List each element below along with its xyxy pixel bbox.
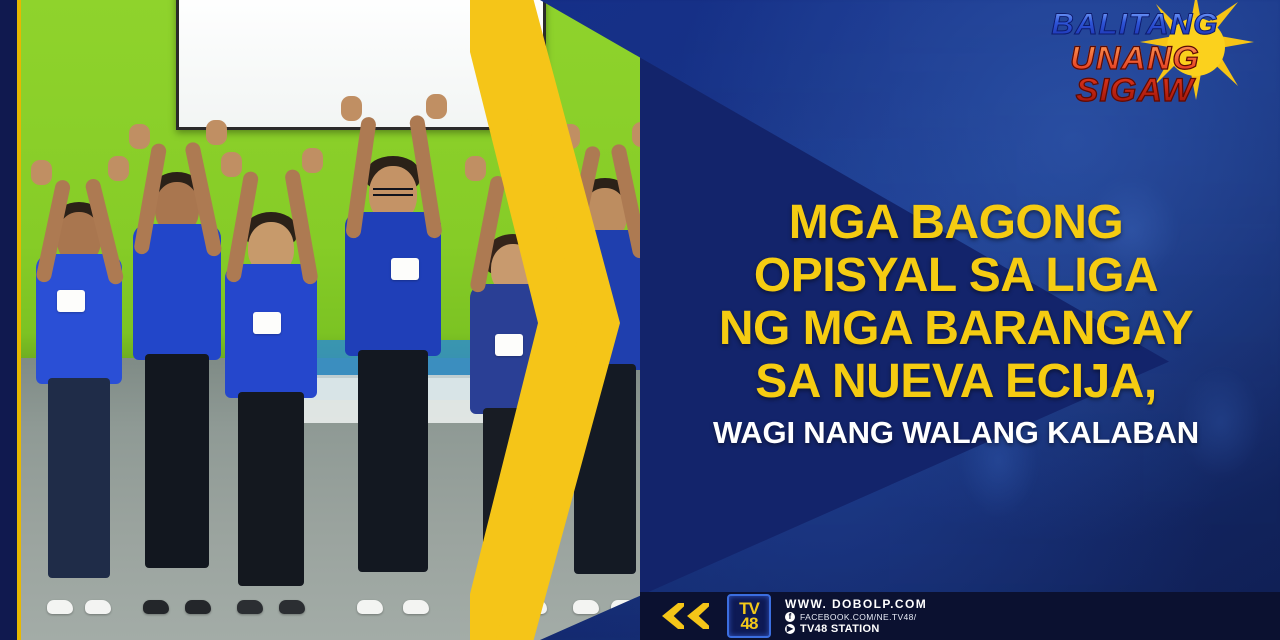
shoe-right: [85, 600, 111, 614]
footer-facebook-row[interactable]: f FACEBOOK.COM/NE.TV48/: [785, 612, 927, 622]
hand-left: [31, 160, 52, 185]
logo-text: BALITANG UNANG SIGAW: [1028, 10, 1242, 106]
hand-left: [221, 152, 242, 177]
footer-youtube: TV48 STATION: [800, 623, 880, 635]
footer-bar: TV 48 WWW. DOBOLP.COM f FACEBOOK.COM/NE.…: [640, 592, 1280, 640]
shoe-left: [47, 600, 73, 614]
shoe-left: [237, 600, 263, 614]
headline-line-4: SA NUEVA ECIJA,: [640, 355, 1272, 408]
shoe-right: [403, 600, 429, 614]
person-4: [341, 154, 445, 612]
footer-youtube-row[interactable]: ▶ TV48 STATION: [785, 623, 927, 635]
program-logo: BALITANG UNANG SIGAW: [1028, 2, 1268, 94]
broadcast-news-thumbnail: MGA BAGONG OPISYAL SA LIGA NG MGA BARANG…: [0, 0, 1280, 640]
legs: [145, 354, 209, 568]
headline-line-3: NG MGA BARANGAY: [640, 302, 1272, 355]
shoe-right: [185, 600, 211, 614]
yellow-chevron-divider: [470, 0, 650, 640]
headline-line-1: MGA BAGONG: [640, 196, 1272, 249]
hand-left: [341, 96, 362, 121]
tv48-logo-bottom: 48: [741, 616, 758, 632]
facebook-icon: f: [785, 612, 795, 622]
footer-website[interactable]: WWW. DOBOLP.COM: [785, 597, 927, 611]
legs: [238, 392, 304, 586]
double-chevron-left-icon: [662, 603, 709, 629]
headline-line-2: OPISYAL SA LIGA: [640, 249, 1272, 302]
person-2: [129, 164, 225, 612]
youtube-icon: ▶: [785, 624, 795, 634]
left-gold-stripe: [17, 0, 21, 640]
footer-facebook: FACEBOOK.COM/NE.TV48/: [800, 612, 917, 622]
legs: [358, 350, 428, 572]
tv48-station-logo: TV 48: [727, 594, 771, 638]
logo-line-2: UNANG SIGAW: [1022, 42, 1249, 106]
person-3: [221, 182, 321, 612]
name-badge: [57, 290, 85, 312]
name-badge: [253, 312, 281, 334]
left-dark-border: [0, 0, 17, 640]
shoe-left: [143, 600, 169, 614]
hand-right: [426, 94, 447, 119]
hand-right: [108, 156, 129, 181]
person-1: [31, 182, 127, 612]
footer-contact-info: WWW. DOBOLP.COM f FACEBOOK.COM/NE.TV48/ …: [785, 597, 927, 635]
shoe-left: [357, 600, 383, 614]
name-badge: [391, 258, 419, 280]
legs: [48, 378, 110, 578]
hand-left: [129, 124, 150, 149]
logo-line-1: BALITANG: [1024, 10, 1247, 40]
hand-right: [206, 120, 227, 145]
hand-right: [302, 148, 323, 173]
headline-subline: WAGI NANG WALANG KALABAN: [640, 412, 1272, 454]
eyeglasses-icon: [373, 188, 413, 196]
shoe-right: [279, 600, 305, 614]
headline-block: MGA BAGONG OPISYAL SA LIGA NG MGA BARANG…: [640, 196, 1272, 454]
